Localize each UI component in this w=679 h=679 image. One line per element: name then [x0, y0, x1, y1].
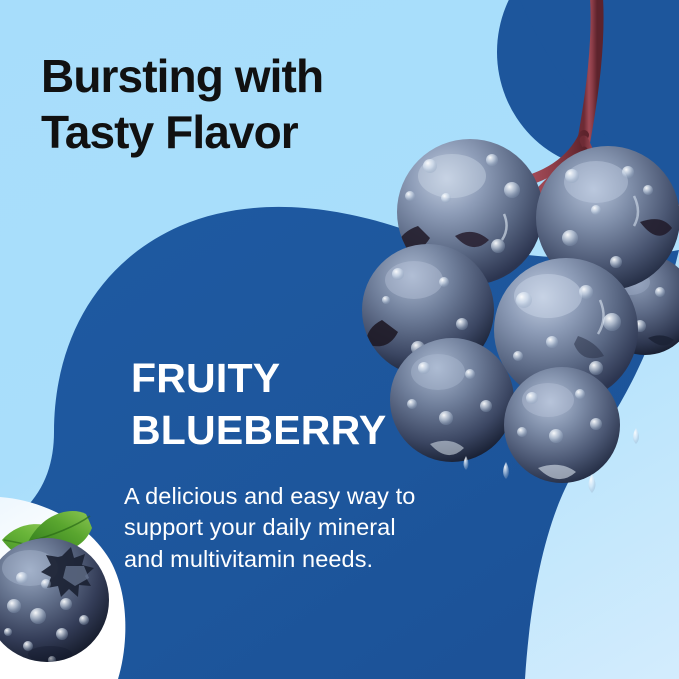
- product-name: FRUITY BLUEBERRY: [131, 352, 461, 457]
- body-copy: A delicious and easy way to support your…: [124, 481, 469, 575]
- poster-canvas: Bursting with Tasty Flavor FRUITY BLUEBE…: [0, 0, 679, 679]
- headline: Bursting with Tasty Flavor: [41, 48, 461, 160]
